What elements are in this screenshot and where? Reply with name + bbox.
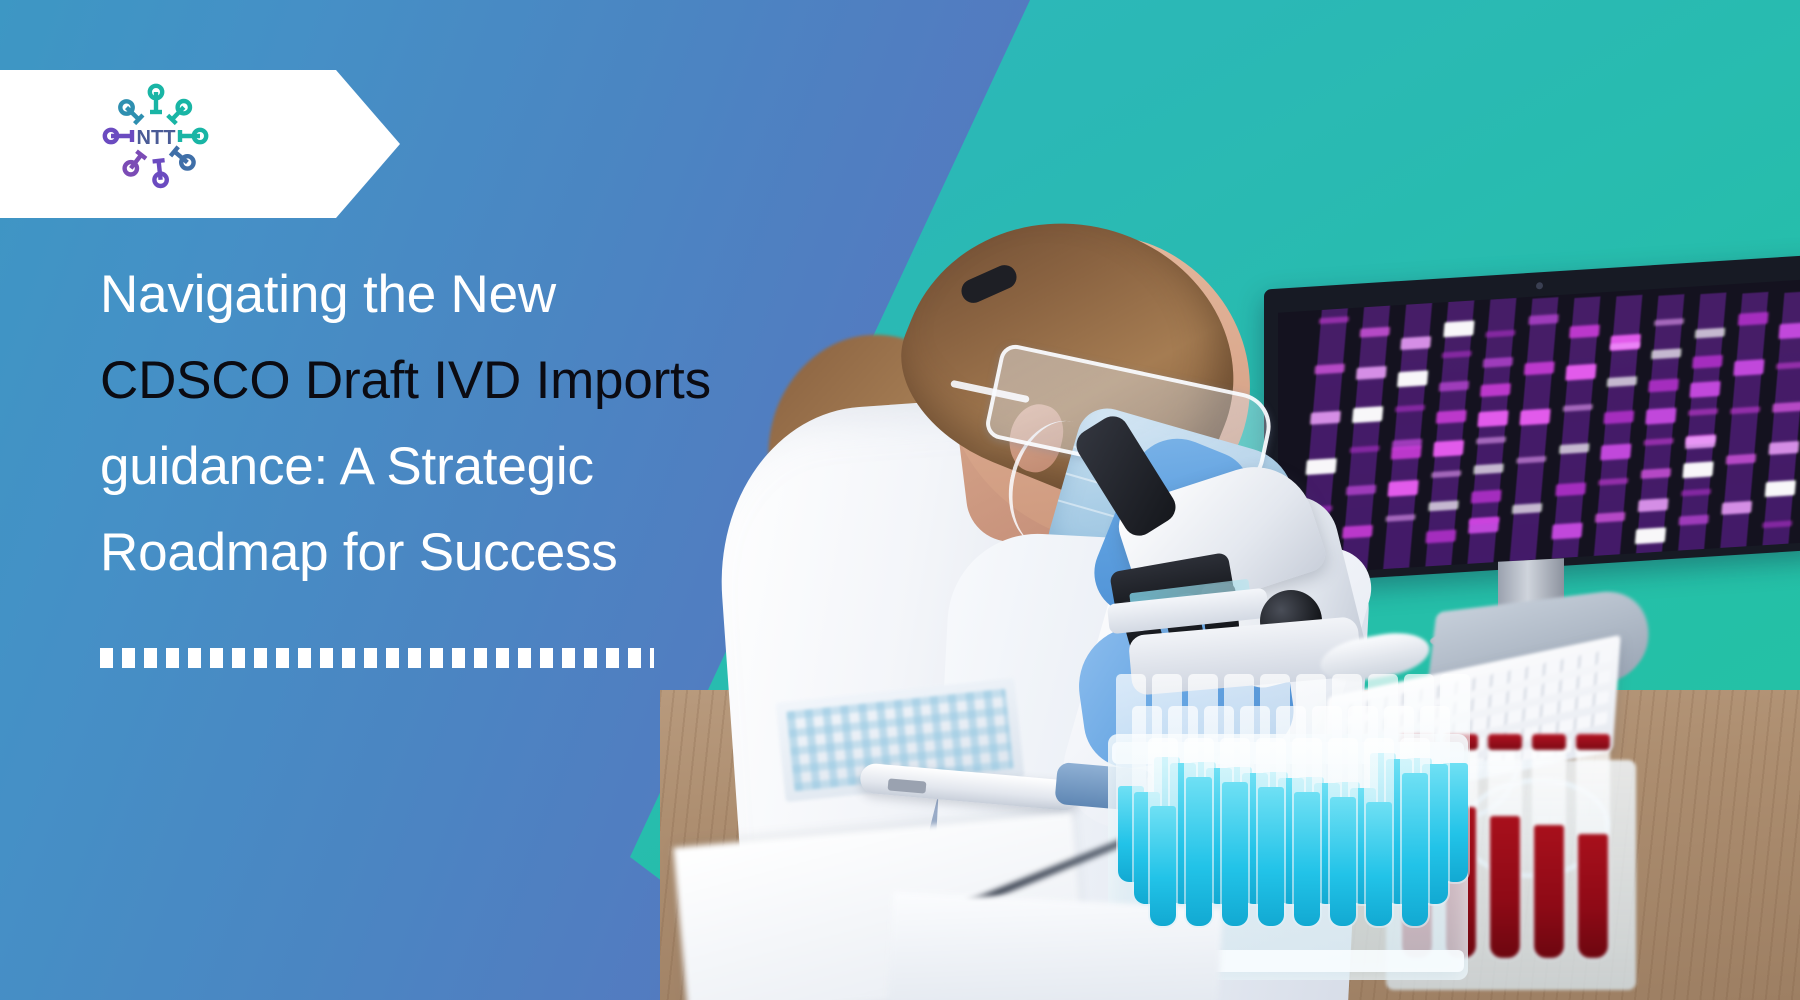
dash-square xyxy=(100,648,113,668)
gel-band xyxy=(1519,409,1550,426)
dash-square xyxy=(562,648,575,668)
dash-square xyxy=(320,648,333,668)
gel-band xyxy=(1528,314,1559,325)
dash-square xyxy=(452,648,465,668)
gel-band xyxy=(1425,530,1456,544)
headline-line-2: CDSCO Draft IVD Imports xyxy=(100,338,840,424)
logo-node-bar xyxy=(153,160,165,161)
logo-node-circle xyxy=(181,156,193,168)
headline-line-1: Navigating the New xyxy=(100,252,840,338)
gel-band xyxy=(1726,454,1757,465)
gel-band xyxy=(1483,357,1514,368)
gel-band xyxy=(1648,378,1679,392)
gel-band xyxy=(1776,361,1800,369)
gel-band xyxy=(1551,522,1582,539)
gel-band xyxy=(1762,520,1793,528)
blood-sample xyxy=(1578,834,1608,958)
blood-sample xyxy=(1490,816,1520,958)
gel-band xyxy=(1428,500,1459,511)
dash-square xyxy=(430,648,443,668)
gel-band xyxy=(1565,364,1596,381)
gel-band xyxy=(1473,464,1504,475)
gel-band xyxy=(1559,443,1590,454)
gel-band xyxy=(1569,324,1600,338)
gel-band xyxy=(1603,410,1634,424)
gel-band xyxy=(1721,501,1752,515)
headline-line-4: Roadmap for Success xyxy=(100,510,840,596)
gel-band xyxy=(1682,462,1713,479)
dash-square xyxy=(122,648,135,668)
page-title: Navigating the New CDSCO Draft IVD Impor… xyxy=(100,252,840,596)
gel-band xyxy=(1772,401,1800,412)
dash-square xyxy=(364,648,377,668)
dash-square xyxy=(166,648,179,668)
gel-band xyxy=(1485,330,1516,338)
test-tube xyxy=(1292,738,1322,928)
tube-cap xyxy=(1532,734,1566,750)
gel-band xyxy=(1443,320,1474,337)
blood-collection-tube xyxy=(1488,740,1522,960)
gel-band xyxy=(1768,441,1799,455)
test-tube-liquid xyxy=(1186,777,1212,926)
test-tube-liquid xyxy=(1366,802,1392,926)
logo-text: NTT xyxy=(137,127,176,149)
gel-band xyxy=(1431,470,1462,478)
gel-band xyxy=(1563,403,1594,411)
gel-band xyxy=(1385,514,1416,522)
dash-square xyxy=(606,648,619,668)
blood-collection-tube xyxy=(1576,740,1610,960)
logo-node-stem xyxy=(159,161,161,180)
dash-square xyxy=(650,648,654,668)
gel-band xyxy=(1476,437,1507,445)
gel-band xyxy=(1733,359,1764,376)
gel-band xyxy=(1555,482,1586,496)
dash-square xyxy=(144,648,157,668)
gel-band xyxy=(1433,440,1464,457)
gel-band xyxy=(1441,350,1472,358)
gel-band xyxy=(1641,468,1672,479)
gel-band xyxy=(1678,515,1709,526)
gel-band xyxy=(1651,348,1682,359)
gel-band xyxy=(1635,527,1666,544)
gel-band xyxy=(1356,366,1387,380)
test-tube-liquid xyxy=(1294,792,1320,926)
test-tube-liquid xyxy=(1258,787,1284,926)
test-tube-liquid xyxy=(1222,782,1248,926)
ntt-network-logo[interactable]: NTT xyxy=(98,80,214,196)
dash-square xyxy=(188,648,201,668)
gel-band xyxy=(1471,490,1502,504)
test-tube xyxy=(1220,738,1250,928)
tube-cap xyxy=(1488,734,1522,750)
gel-band xyxy=(1436,410,1467,424)
test-tube-liquid xyxy=(1402,773,1428,926)
dash-square xyxy=(210,648,223,668)
test-tube xyxy=(1400,738,1430,928)
dash-square xyxy=(298,648,311,668)
gel-band xyxy=(1692,355,1723,369)
logo-node-circle xyxy=(178,101,190,113)
gel-band xyxy=(1643,438,1674,446)
dash-square xyxy=(276,648,289,668)
test-tube-liquid xyxy=(1150,806,1176,926)
dash-square xyxy=(518,648,531,668)
gel-band xyxy=(1391,446,1422,460)
gel-band xyxy=(1607,376,1638,387)
square-dash-rule xyxy=(100,648,600,670)
gel-band xyxy=(1387,480,1418,497)
gel-band xyxy=(1600,444,1631,461)
gel-band xyxy=(1645,408,1676,425)
gel-band xyxy=(1397,370,1428,387)
gel-band xyxy=(1595,512,1626,523)
webcam-icon xyxy=(1536,282,1543,289)
gel-band xyxy=(1689,381,1720,398)
gel-band xyxy=(1654,318,1685,326)
gel-band xyxy=(1400,336,1431,350)
dash-square xyxy=(474,648,487,668)
test-tube-liquid xyxy=(1330,797,1356,926)
gel-band xyxy=(1738,312,1769,326)
gel-band xyxy=(1685,435,1716,449)
gel-band xyxy=(1359,326,1390,337)
banner-canvas: NTT Navigating the New CDSCO Draft IVD I… xyxy=(0,0,1800,1000)
gel-band xyxy=(1477,410,1508,427)
blood-collection-tube xyxy=(1532,740,1566,960)
gel-band xyxy=(1395,404,1426,412)
dash-square xyxy=(232,648,245,668)
gel-band xyxy=(1688,408,1719,416)
gel-band xyxy=(1778,322,1800,339)
dash-square xyxy=(254,648,267,668)
test-tube xyxy=(1148,738,1178,928)
gel-band xyxy=(1439,380,1470,391)
gel-band xyxy=(1638,497,1669,511)
test-tube xyxy=(1328,738,1358,928)
gel-band xyxy=(1512,503,1543,514)
test-tube xyxy=(1256,738,1286,928)
test-tube xyxy=(1364,738,1394,928)
gel-band xyxy=(1516,456,1547,464)
gel-band xyxy=(1765,480,1796,497)
gel-band xyxy=(1681,489,1712,497)
dash-square xyxy=(408,648,421,668)
gel-band xyxy=(1695,328,1726,339)
test-tube xyxy=(1184,738,1214,928)
dash-square xyxy=(386,648,399,668)
dash-square xyxy=(584,648,597,668)
blood-sample xyxy=(1534,825,1564,958)
dash-square xyxy=(540,648,553,668)
gel-band xyxy=(1480,384,1511,398)
dash-square xyxy=(342,648,355,668)
tube-cap xyxy=(1576,734,1610,750)
dash-square xyxy=(628,648,641,668)
headline-line-3: guidance: A Strategic xyxy=(100,424,840,510)
gel-band xyxy=(1730,406,1761,414)
gel-band xyxy=(1524,361,1555,375)
dash-square xyxy=(496,648,509,668)
gel-band xyxy=(1598,478,1629,486)
